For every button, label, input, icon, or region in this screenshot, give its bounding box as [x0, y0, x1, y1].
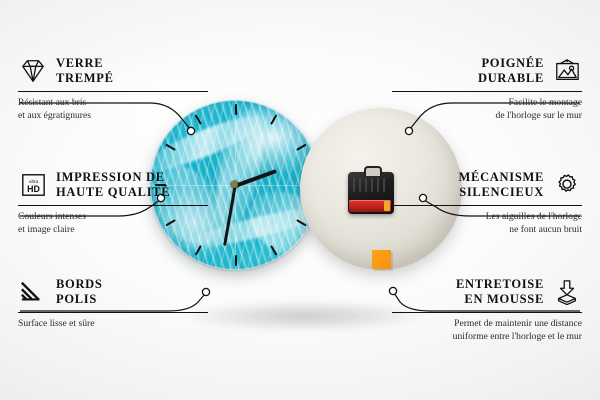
feature-divider	[392, 91, 582, 93]
feature-header: POIGNÉE DURABLE	[392, 56, 582, 87]
feature-divider	[392, 312, 582, 314]
feature-description: Permet de maintenir une distance uniform…	[392, 318, 582, 344]
feature-title: IMPRESSION DE HAUTE QUALITÉ	[56, 170, 170, 201]
ultra-hd-icon: ultra HD	[18, 172, 48, 198]
feature-description: Résistant aux bris et aux égratignures	[18, 97, 208, 123]
feature-header: VERRE TREMPÉ	[18, 56, 208, 87]
polished-edges-icon	[18, 279, 48, 305]
feature-title: POIGNÉE DURABLE	[478, 56, 544, 87]
feature-title: BORDS POLIS	[56, 277, 103, 308]
feature-title: MÉCANISME SILENCIEUX	[459, 170, 544, 201]
clock-center-cap	[231, 181, 238, 188]
feature-title: VERRE TREMPÉ	[56, 56, 114, 87]
feature-title: ENTRETOISE EN MOUSSE	[456, 277, 544, 308]
clock-battery	[349, 200, 391, 212]
feature-poignee-durable[interactable]: POIGNÉE DURABLE Facilite le montage de l…	[392, 56, 582, 123]
feature-header: ultra HD IMPRESSION DE HAUTE QUALITÉ	[18, 170, 208, 201]
clock-hanger-tab	[364, 166, 382, 176]
hanging-picture-frame-icon	[552, 58, 582, 84]
feature-header: MÉCANISME SILENCIEUX	[392, 170, 582, 201]
foam-spacer-square	[372, 250, 391, 269]
feature-description: Surface lisse et sûre	[18, 318, 208, 331]
feature-bords-polis[interactable]: BORDS POLIS Surface lisse et sûre	[18, 277, 208, 331]
feature-divider	[392, 205, 582, 207]
feature-divider	[18, 205, 208, 207]
feature-description: Facilite le montage de l'horloge sur le …	[392, 97, 582, 123]
feature-entretoise-en-mousse[interactable]: ENTRETOISE EN MOUSSE Permet de maintenir…	[392, 277, 582, 344]
diamond-icon	[18, 58, 48, 84]
feature-description: Couleurs intenses et image claire	[18, 211, 208, 237]
battery-positive-tip	[384, 201, 390, 211]
feature-mecanisme-silencieux[interactable]: MÉCANISME SILENCIEUX Les aiguilles de l'…	[392, 170, 582, 237]
foam-spacer-press-icon	[552, 279, 582, 305]
feature-header: ENTRETOISE EN MOUSSE	[392, 277, 582, 308]
feature-header: BORDS POLIS	[18, 277, 208, 308]
gear-icon	[552, 172, 582, 198]
feature-verre-trempe[interactable]: VERRE TREMPÉ Résistant aux bris et aux é…	[18, 56, 208, 123]
feature-description: Les aiguilles de l'horloge ne font aucun…	[392, 211, 582, 237]
feature-impression-haute-qualite[interactable]: ultra HD IMPRESSION DE HAUTE QUALITÉ Cou…	[18, 170, 208, 237]
svg-text:HD: HD	[27, 184, 40, 194]
feature-divider	[18, 312, 208, 314]
feature-divider	[18, 91, 208, 93]
mechanism-texture	[353, 178, 389, 192]
infographic-canvas: VERRE TREMPÉ Résistant aux bris et aux é…	[0, 0, 600, 400]
